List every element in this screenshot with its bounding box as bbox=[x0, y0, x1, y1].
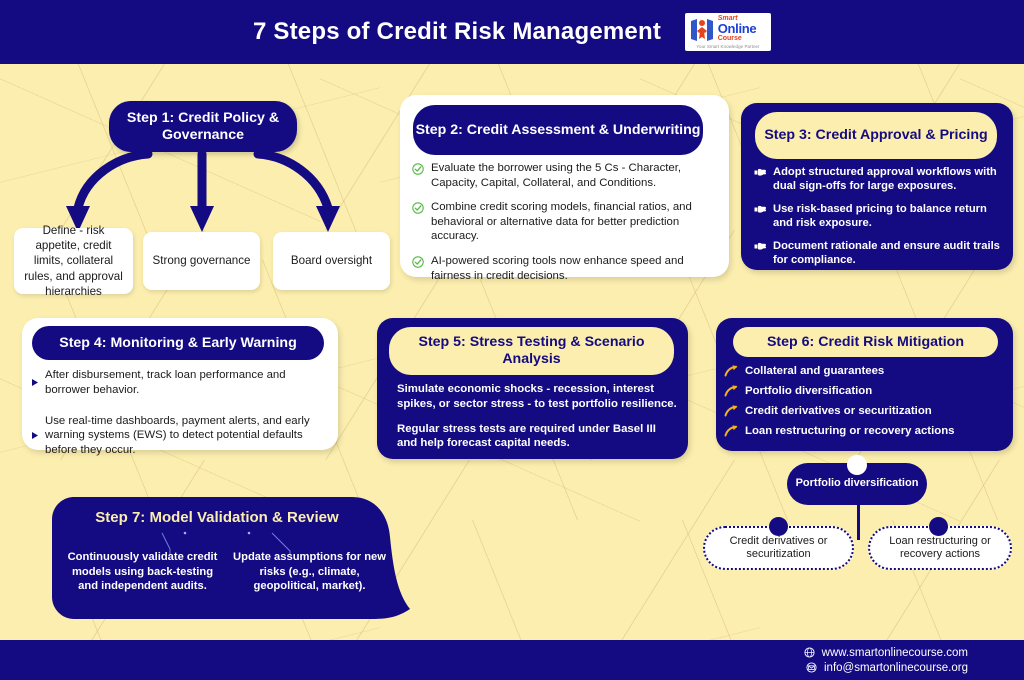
footer-email-row[interactable]: info@smartonlinecourse.org bbox=[806, 662, 968, 674]
step5-card: Step 5: Stress Testing & Scenario Analys… bbox=[377, 318, 688, 459]
diagram-dot-right bbox=[929, 517, 948, 536]
diagram-node-top-label: Portfolio diversification bbox=[796, 477, 919, 490]
list-item: Evaluate the borrower using the 5 Cs - C… bbox=[412, 161, 718, 190]
step5-list: Simulate economic shocks - recession, in… bbox=[397, 382, 677, 461]
list-item-label: After disbursement, track loan performan… bbox=[45, 368, 331, 398]
gold-curved-arrow-icon bbox=[724, 424, 739, 437]
step4-list: After disbursement, track loan performan… bbox=[31, 368, 331, 466]
diagram-dot-left bbox=[769, 517, 788, 536]
logo-course-text: Course bbox=[718, 35, 757, 42]
list-item-label: Use risk-based pricing to balance return… bbox=[773, 202, 1004, 230]
list-item: Collateral and guarantees bbox=[724, 364, 1009, 377]
step7-column-2: Update assumptions for new risks (e.g., … bbox=[233, 550, 386, 594]
triangle-bullet-icon bbox=[31, 378, 39, 387]
step2-title: Step 2: Credit Assessment & Underwriting bbox=[413, 105, 703, 155]
list-item-label: Document rationale and ensure audit trai… bbox=[773, 239, 1004, 267]
pointing-hand-icon bbox=[754, 241, 767, 252]
gold-curved-arrow-icon bbox=[724, 404, 739, 417]
footer-website-label: www.smartonlinecourse.com bbox=[822, 647, 968, 659]
list-item-label: Simulate economic shocks - recession, in… bbox=[397, 382, 677, 412]
page-footer: www.smartonlinecourse.com info@smartonli… bbox=[0, 640, 1024, 680]
list-item-label: Credit derivatives or securitization bbox=[745, 405, 932, 417]
list-item: Adopt structured approval workflows with… bbox=[754, 165, 1004, 193]
step7-title: Step 7: Model Validation & Review bbox=[52, 509, 382, 526]
diagram-vertical-connector bbox=[857, 505, 860, 540]
step3-title: Step 3: Credit Approval & Pricing bbox=[755, 112, 997, 159]
list-item: Credit derivatives or securitization bbox=[724, 404, 1009, 417]
gold-curved-arrow-icon bbox=[724, 384, 739, 397]
pointing-hand-icon bbox=[754, 204, 767, 215]
step1-title: Step 1: Credit Policy & Governance bbox=[109, 101, 297, 152]
list-item-label: Collateral and guarantees bbox=[745, 365, 884, 377]
list-item-label: Adopt structured approval workflows with… bbox=[773, 165, 1004, 193]
list-item-label: Portfolio diversification bbox=[745, 385, 872, 397]
triangle-bullet-icon bbox=[31, 431, 39, 440]
green-check-circle-icon bbox=[412, 256, 424, 268]
page-header: 7 Steps of Credit Risk Management Smart … bbox=[0, 0, 1024, 64]
step7-card: Step 7: Model Validation & Review Contin… bbox=[52, 497, 412, 619]
footer-website-row[interactable]: www.smartonlinecourse.com bbox=[804, 647, 968, 659]
list-item-label: AI-powered scoring tools now enhance spe… bbox=[431, 254, 718, 283]
envelope-circle-icon bbox=[806, 662, 817, 673]
step3-card: Step 3: Credit Approval & Pricing Adopt … bbox=[741, 103, 1013, 270]
globe-icon bbox=[804, 647, 815, 658]
list-item: Use risk-based pricing to balance return… bbox=[754, 202, 1004, 230]
list-item: AI-powered scoring tools now enhance spe… bbox=[412, 254, 718, 283]
step3-list: Adopt structured approval workflows with… bbox=[754, 165, 1004, 276]
list-item-label: Evaluate the borrower using the 5 Cs - C… bbox=[431, 161, 718, 190]
step6-list: Collateral and guarantees Portfolio dive… bbox=[724, 364, 1009, 444]
brand-logo: Smart Online Course Your Smart Knowledge… bbox=[685, 13, 771, 51]
list-item: Combine credit scoring models, financial… bbox=[412, 200, 718, 244]
step1-box-2: Strong governance bbox=[143, 232, 260, 290]
step1-box-3: Board oversight bbox=[273, 232, 390, 290]
list-item-label: Loan restructuring or recovery actions bbox=[745, 425, 955, 437]
list-item: After disbursement, track loan performan… bbox=[31, 368, 331, 398]
list-item: Loan restructuring or recovery actions bbox=[724, 424, 1009, 437]
step7-columns: Continuously validate credit models usin… bbox=[66, 550, 386, 594]
step2-list: Evaluate the borrower using the 5 Cs - C… bbox=[412, 161, 718, 293]
list-item: Portfolio diversification bbox=[724, 384, 1009, 397]
page-title: 7 Steps of Credit Risk Management bbox=[253, 18, 661, 46]
logo-tagline: Your Smart Knowledge Partner bbox=[696, 44, 759, 49]
list-item: Document rationale and ensure audit trai… bbox=[754, 239, 1004, 267]
list-item: Use real-time dashboards, payment alerts… bbox=[31, 414, 331, 458]
gold-curved-arrow-icon bbox=[724, 364, 739, 377]
diagram-node-right-label: Loan restructuring or recovery actions bbox=[870, 535, 1010, 562]
pointing-hand-icon bbox=[754, 167, 767, 178]
diagram-dot-top bbox=[847, 455, 867, 475]
person-logo-icon bbox=[689, 17, 715, 43]
footer-email-label: info@smartonlinecourse.org bbox=[824, 662, 968, 674]
green-check-circle-icon bbox=[412, 202, 424, 214]
list-item-label: Regular stress tests are required under … bbox=[397, 422, 677, 452]
diagram-node-left-label: Credit derivatives or securitization bbox=[705, 535, 852, 562]
logo-online-text: Online bbox=[718, 22, 757, 35]
list-item-label: Combine credit scoring models, financial… bbox=[431, 200, 718, 244]
step1-box-1: Define - risk appetite, credit limits, c… bbox=[14, 228, 133, 294]
step6-title: Step 6: Credit Risk Mitigation bbox=[733, 327, 998, 357]
step5-title: Step 5: Stress Testing & Scenario Analys… bbox=[389, 327, 674, 375]
step4-title: Step 4: Monitoring & Early Warning bbox=[32, 326, 324, 360]
step2-card: Step 2: Credit Assessment & Underwriting… bbox=[400, 95, 729, 277]
list-item-label: Use real-time dashboards, payment alerts… bbox=[45, 414, 331, 458]
step4-card: Step 4: Monitoring & Early Warning After… bbox=[22, 318, 338, 450]
green-check-circle-icon bbox=[412, 163, 424, 175]
step7-column-1: Continuously validate credit models usin… bbox=[66, 550, 219, 594]
step6-card: Step 6: Credit Risk Mitigation Collatera… bbox=[716, 318, 1013, 451]
